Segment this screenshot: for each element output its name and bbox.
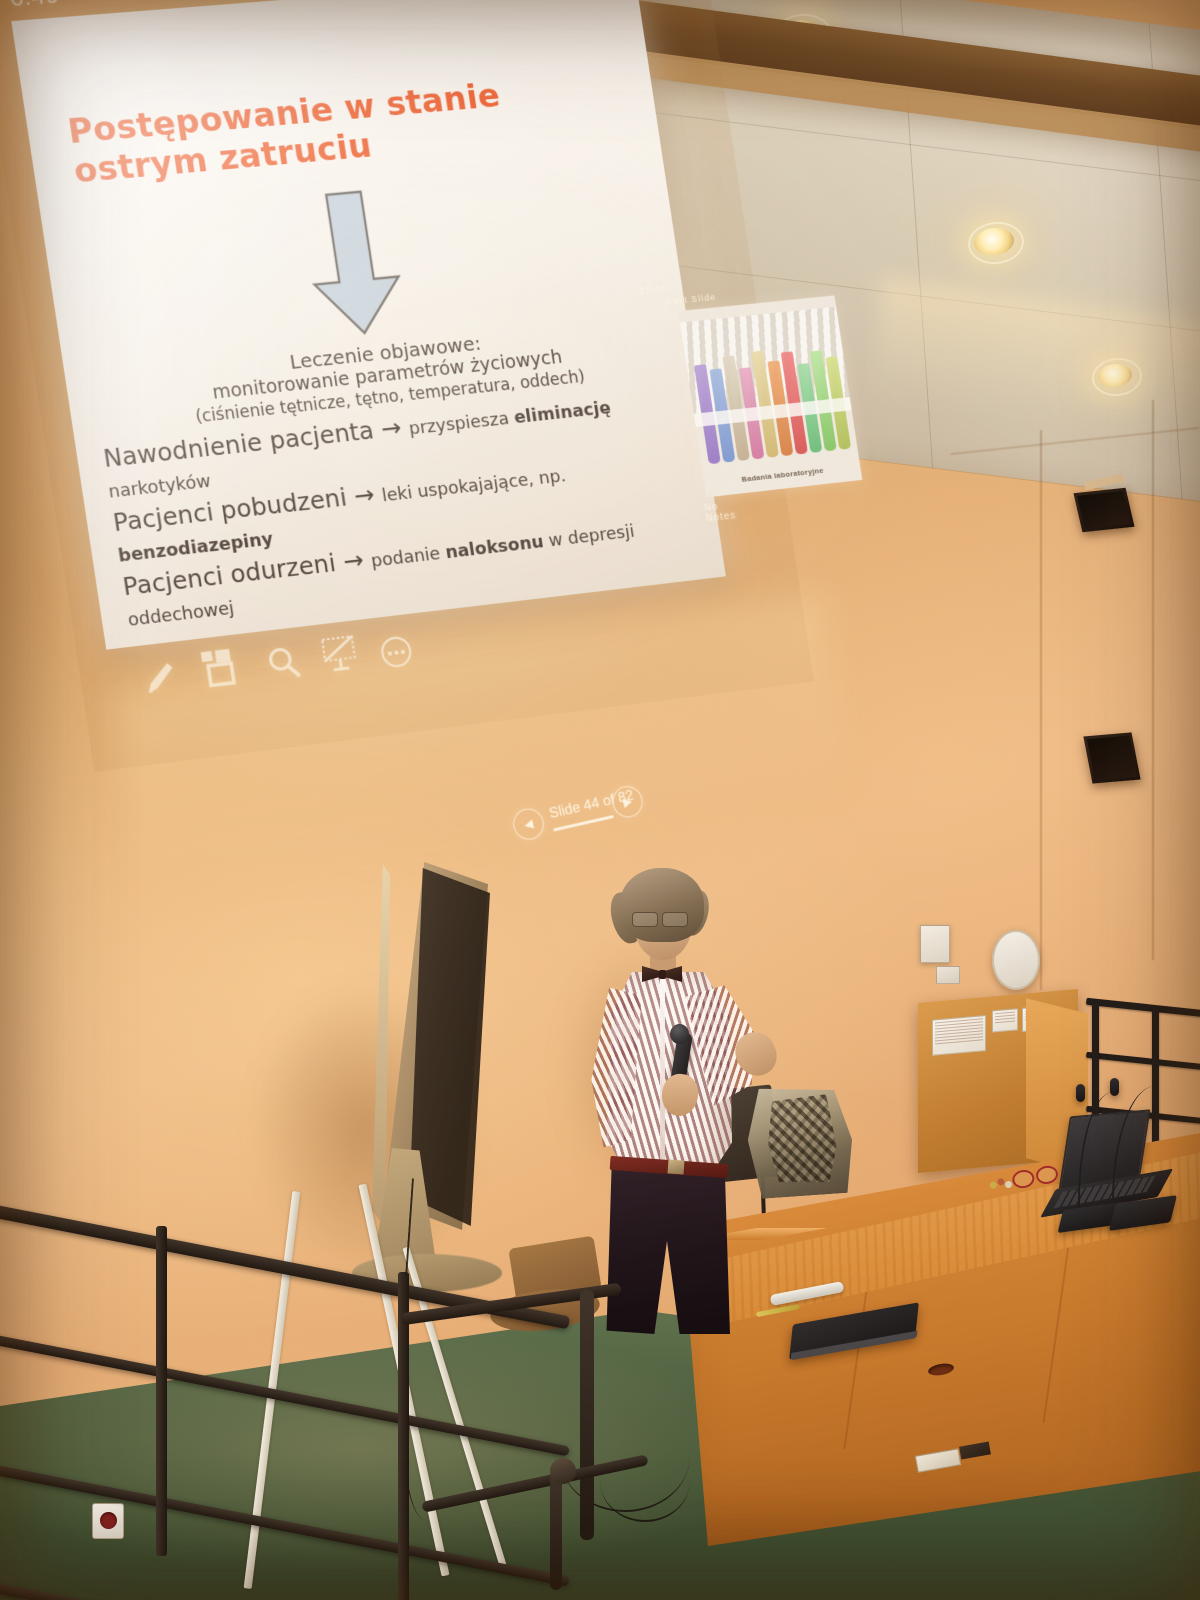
arrow-glyph: → <box>352 480 376 510</box>
wall-seam <box>1040 430 1042 990</box>
bullet-3-rest-b: naloksonu <box>444 532 545 563</box>
wall-mirror <box>992 930 1040 990</box>
lecture-hall-photo: 6:49 ❚❚ ↻ ⧉ DISPLAY SETTINGS ▾ ⧉ END SLI… <box>0 0 1200 1600</box>
down-arrow-shape <box>297 187 411 341</box>
presenter-speaker <box>576 868 796 1328</box>
microphone-capsule <box>1076 1084 1085 1102</box>
arrow-glyph: → <box>341 546 365 576</box>
bullet-1-rest-c: narkotyków <box>107 471 212 503</box>
wall-speaker <box>1073 488 1134 532</box>
rail-post <box>156 1226 167 1556</box>
wall-switch[interactable] <box>936 966 960 984</box>
foreground-railing-right <box>400 1260 660 1600</box>
bullet-1-rest-a: przyspiesza <box>408 408 516 439</box>
next-slide-thumbnail[interactable]: Badania laboratoryjne <box>678 295 862 497</box>
microphone-capsule <box>1110 1078 1119 1096</box>
slide-title: Postępowanie w stanie ostrym zatruciu <box>65 66 630 192</box>
arrow-glyph: → <box>379 413 403 443</box>
ac-control-panel[interactable] <box>920 925 950 963</box>
bullet-3-rest-a: podanie <box>370 543 447 572</box>
bullet-1-rest-b: eliminację <box>513 398 612 428</box>
cabinet-notice <box>992 1008 1018 1032</box>
wall-speaker <box>1083 732 1140 783</box>
shirt-placket <box>660 976 665 1166</box>
bow-tie <box>642 966 682 982</box>
wall-seam <box>1152 400 1154 960</box>
slide-body: Leczenie objawowe: monitorowanie paramet… <box>90 312 705 633</box>
eyeglasses-worn <box>632 912 694 926</box>
belt-buckle <box>668 1159 685 1174</box>
current-slide[interactable]: Postępowanie w stanie ostrym zatruciu Le… <box>11 0 726 650</box>
cabinet-notice <box>932 1015 986 1056</box>
hair <box>620 868 704 942</box>
